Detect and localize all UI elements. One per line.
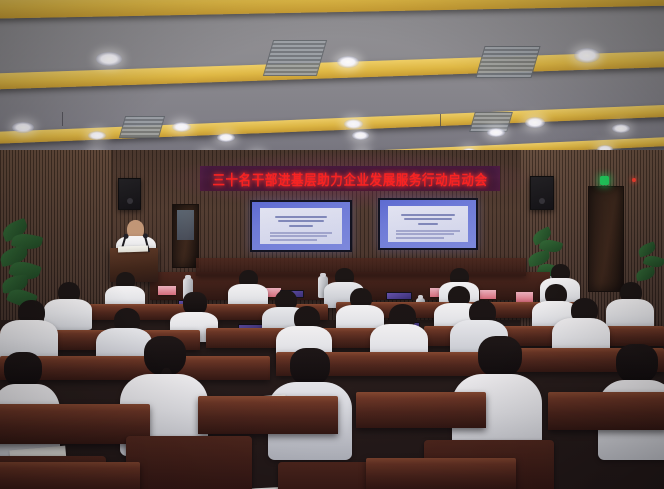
- attendee-hair: [616, 344, 658, 384]
- ceiling-downlight: [574, 48, 600, 63]
- attendee-hair: [478, 336, 522, 378]
- ceiling-downlight: [487, 128, 505, 137]
- door-left[interactable]: [172, 204, 199, 268]
- ceiling: [0, 0, 664, 172]
- ceiling-downlight: [352, 131, 369, 140]
- ac-vent: [119, 116, 165, 138]
- projection-screen-right: [378, 198, 478, 250]
- desk-row-4: [198, 396, 338, 434]
- wall-speaker-left: [118, 178, 141, 210]
- ceiling-downlight: [12, 122, 34, 133]
- indicator-led-icon: [632, 178, 636, 182]
- ceiling-downlight: [612, 124, 630, 133]
- ac-vent: [475, 46, 540, 78]
- ceiling-downlight: [88, 131, 106, 140]
- ac-vent: [263, 40, 327, 76]
- desk-row-4: [356, 392, 486, 428]
- door-window: [177, 210, 194, 240]
- podium-paper: [118, 245, 148, 252]
- slide-right: [388, 206, 469, 242]
- ceiling-downlight: [217, 133, 235, 142]
- attendee-hair: [4, 352, 42, 388]
- desk-monitor: [386, 292, 412, 300]
- ceiling-downlight: [337, 56, 359, 68]
- attendee-hair: [290, 348, 330, 386]
- chair-back[interactable]: [126, 436, 252, 489]
- ceiling-downlight: [172, 122, 191, 132]
- led-banner: 三十名干部进基层助力企业发展服务行动启动会: [200, 166, 500, 191]
- projection-screen-left: [250, 200, 352, 252]
- door-right[interactable]: [588, 186, 624, 292]
- desk-row-5-front: [0, 462, 140, 489]
- conference-hall-photo: 三十名干部进基层助力企业发展服务行动启动会: [0, 0, 664, 489]
- desk-row-5-front: [366, 458, 516, 489]
- slide-left: [260, 208, 342, 244]
- ceiling-beam: [0, 0, 664, 19]
- banner-text: 三十名干部进基层助力企业发展服务行动启动会: [212, 168, 487, 190]
- wall-speaker-right: [530, 176, 554, 210]
- ceiling-downlight: [525, 117, 545, 128]
- exit-sign-icon: [600, 176, 609, 185]
- ceiling-downlight: [96, 52, 122, 66]
- desk-row-4: [548, 392, 664, 430]
- ceiling-wire: [62, 112, 63, 126]
- ceiling-wire: [440, 114, 441, 126]
- ceiling-downlight: [344, 119, 363, 129]
